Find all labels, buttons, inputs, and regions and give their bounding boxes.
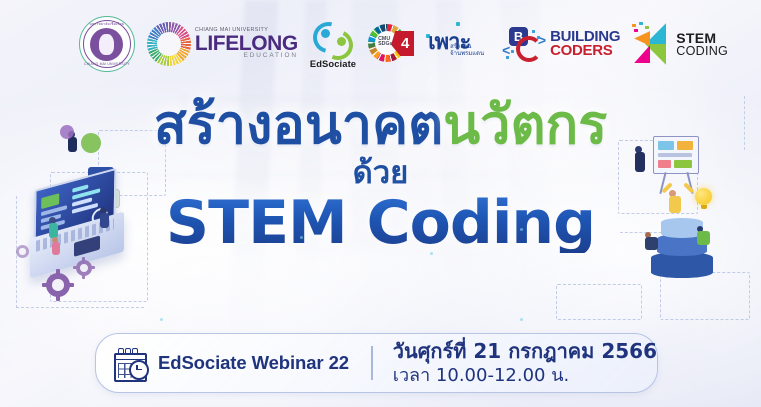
webinar-datetime-group: วันศุกร์ที่ 21 กรกฎาคม 2566 เวลา 10.00-1…: [373, 340, 657, 386]
webinar-title-group: EdSociate Webinar 22: [96, 348, 371, 379]
webinar-poster: มหาวิทยาลัยเชียงใหม่ CHIANG MAI UNIVERSI…: [0, 0, 761, 407]
logo-cmu-lifelong-education: CHIANG MAI UNIVERSITY LIFELONG EDUCATION: [147, 22, 298, 66]
lifelong-ring-icon: [147, 22, 191, 66]
sparkle-4: [160, 318, 163, 321]
stem-coding-mark-icon: [632, 23, 670, 65]
partner-logo-strip: มหาวิทยาลัยเชียงใหม่ CHIANG MAI UNIVERSI…: [0, 0, 761, 88]
headline-green-text: นวัตกร: [443, 93, 607, 156]
stem-coding-line1: STEM: [676, 31, 728, 45]
logo-pho: เพาะ สร้างคน จ้านพรมแดน: [426, 22, 490, 66]
logo-stem-coding: STEM CODING: [632, 23, 728, 65]
headline-line-1: สร้างอนาคตนวัตกร: [0, 98, 761, 152]
headline-line-2: ด้วย: [0, 158, 761, 189]
sparkle-3: [520, 228, 523, 231]
building-coders-mark-icon: < B >: [502, 26, 546, 62]
logo-building-coders: < B > BUILDING CODERS: [502, 26, 620, 62]
pho-sub2: จ้านพรมแดน: [450, 51, 484, 58]
logo-chiang-mai-university-seal: มหาวิทยาลัยเชียงใหม่ CHIANG MAI UNIVERSI…: [79, 16, 135, 72]
logo-cmu-sdgs: CMU SDGs 4: [368, 23, 414, 65]
webinar-time: เวลา 10.00-12.00 น.: [393, 365, 657, 386]
webinar-date: วันศุกร์ที่ 21 กรกฎาคม 2566: [393, 340, 657, 364]
lifelong-subtitle: EDUCATION: [195, 53, 298, 60]
sdg-line2: SDGs: [378, 42, 392, 47]
edsociate-mark-icon: [313, 20, 353, 56]
cmu-seal-bottom-text: CHIANG MAI UNIVERSITY: [80, 62, 134, 66]
gear-icon-large: [46, 273, 70, 297]
webinar-info-bar: EdSociate Webinar 22 วันศุกร์ที่ 21 กรกฎ…: [95, 333, 658, 393]
sparkle-5: [520, 318, 523, 321]
headline-blue-text: สร้างอนาคต: [154, 93, 444, 156]
building-coders-line2: CODERS: [550, 44, 620, 58]
cmu-seal-top-text: มหาวิทยาลัยเชียงใหม่: [80, 22, 134, 27]
calendar-clock-icon: [114, 348, 147, 379]
cmu-seal-icon: มหาวิทยาลัยเชียงใหม่ CHIANG MAI UNIVERSI…: [79, 16, 135, 72]
sparkle-2: [430, 252, 433, 255]
headline-block: สร้างอนาคตนวัตกร ด้วย STEM Coding: [0, 98, 761, 253]
lifelong-title: LIFELONG: [195, 34, 298, 53]
pho-sub1: สร้างคน: [450, 44, 484, 51]
gear-icon-small: [76, 260, 92, 276]
headline-line-3: STEM Coding: [0, 193, 761, 253]
webinar-label: EdSociate Webinar 22: [158, 352, 349, 374]
sparkle-1: [300, 236, 303, 239]
logo-edsociate: EdSociate: [310, 20, 356, 69]
stem-coding-line2: CODING: [676, 45, 728, 58]
